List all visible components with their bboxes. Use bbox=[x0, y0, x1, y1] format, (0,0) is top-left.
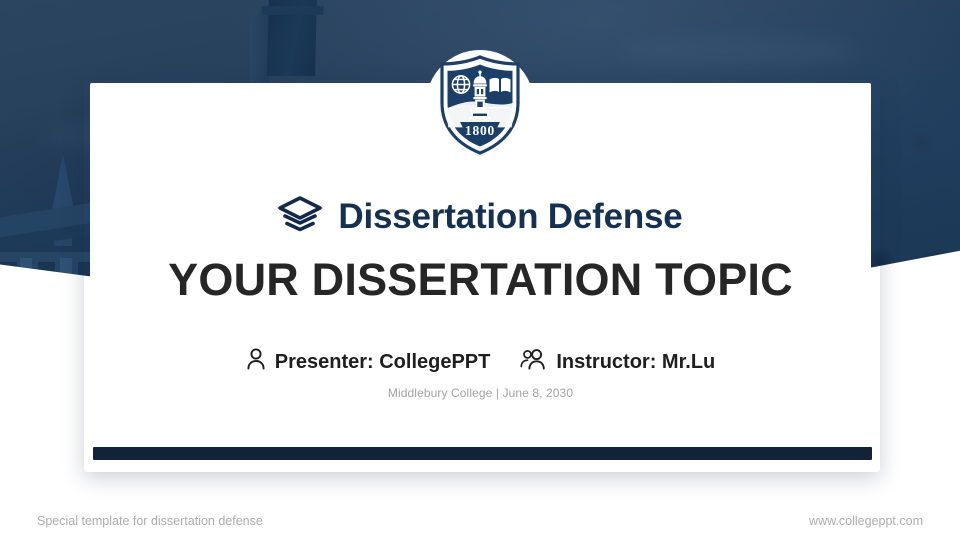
people-group-icon bbox=[520, 348, 547, 375]
credits-row: Presenter: CollegePPT Instructor: Mr.Lu bbox=[90, 348, 871, 375]
person-icon bbox=[246, 348, 266, 375]
presenter-item: Presenter: CollegePPT bbox=[246, 348, 491, 375]
page-title: YOUR DISSERTATION TOPIC bbox=[90, 256, 871, 305]
eyebrow-label: Dissertation Defense bbox=[338, 199, 682, 234]
eyebrow-row: Dissertation Defense bbox=[90, 196, 871, 237]
cloud-streak bbox=[620, 36, 860, 66]
institution-date-line: Middlebury College | June 8, 2030 bbox=[90, 386, 871, 400]
footer-website[interactable]: www.collegeppt.com bbox=[809, 514, 923, 528]
presenter-label: Presenter: CollegePPT bbox=[275, 352, 491, 372]
presentation-slide: Dissertation Defense YOUR DISSERTATION T… bbox=[0, 0, 960, 540]
footer-tagline: Special template for dissertation defens… bbox=[37, 514, 263, 528]
crest-year-text: 1800 bbox=[465, 123, 495, 138]
instructor-label: Instructor: Mr.Lu bbox=[556, 352, 715, 372]
graduation-cap-icon bbox=[278, 196, 322, 237]
middlebury-college-shield-icon: 1800 bbox=[420, 48, 540, 160]
instructor-item: Instructor: Mr.Lu bbox=[520, 348, 715, 375]
chimney-silhouette bbox=[267, 0, 317, 76]
card-base-bar bbox=[93, 447, 872, 460]
